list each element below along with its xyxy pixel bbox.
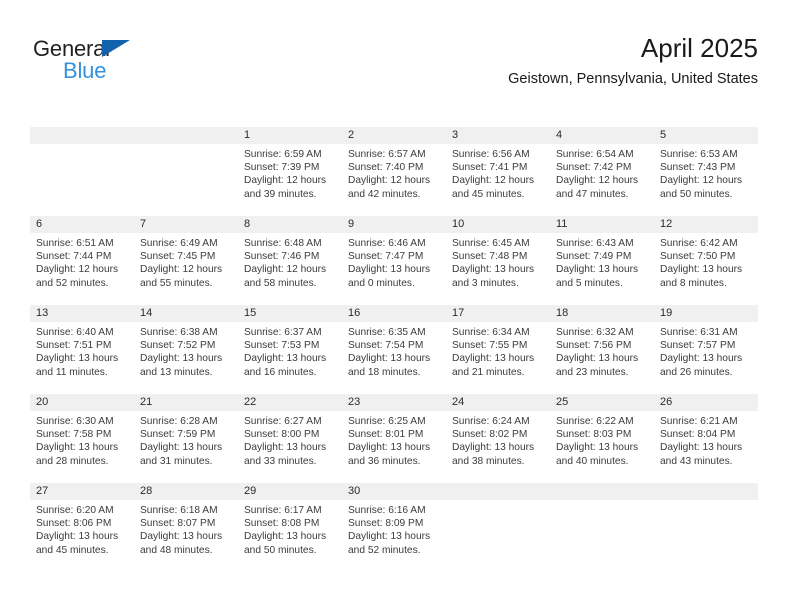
calendar-day-cell[interactable]: 17Sunrise: 6:34 AMSunset: 7:55 PMDayligh… — [446, 305, 550, 394]
daylight-text-line1: Daylight: 13 hours — [244, 441, 337, 454]
sunset-text: Sunset: 7:40 PM — [348, 161, 441, 174]
daylight-text-line2: and 8 minutes. — [660, 277, 753, 290]
day-number: 26 — [654, 394, 758, 411]
daylight-text-line1: Daylight: 13 hours — [452, 352, 545, 365]
calendar-week-row: 6Sunrise: 6:51 AMSunset: 7:44 PMDaylight… — [30, 216, 758, 305]
title-block: April 2025 Geistown, Pennsylvania, Unite… — [508, 32, 758, 88]
day-number — [446, 483, 550, 500]
day-number: 30 — [342, 483, 446, 500]
sunrise-text: Sunrise: 6:18 AM — [140, 504, 233, 517]
calendar-day-cell[interactable]: 26Sunrise: 6:21 AMSunset: 8:04 PMDayligh… — [654, 394, 758, 483]
daylight-text-line1: Daylight: 12 hours — [348, 174, 441, 187]
sunset-text: Sunset: 7:57 PM — [660, 339, 753, 352]
daylight-text-line1: Daylight: 13 hours — [140, 352, 233, 365]
day-cell-7: 7Sunrise: 6:49 AMSunset: 7:45 PMDaylight… — [134, 216, 238, 305]
daylight-text-line2: and 5 minutes. — [556, 277, 649, 290]
sun-info: Sunrise: 6:31 AMSunset: 7:57 PMDaylight:… — [654, 322, 758, 379]
day-cell-27: 27Sunrise: 6:20 AMSunset: 8:06 PMDayligh… — [30, 483, 134, 572]
calendar-day-cell[interactable]: 27Sunrise: 6:20 AMSunset: 8:06 PMDayligh… — [30, 483, 134, 572]
day-cell-5: 5Sunrise: 6:53 AMSunset: 7:43 PMDaylight… — [654, 127, 758, 216]
daylight-text-line1: Daylight: 13 hours — [36, 352, 129, 365]
daylight-text-line1: Daylight: 12 hours — [660, 174, 753, 187]
sun-info: Sunrise: 6:30 AMSunset: 7:58 PMDaylight:… — [30, 411, 134, 468]
daylight-text-line1: Daylight: 12 hours — [244, 174, 337, 187]
day-number: 1 — [238, 127, 342, 144]
sunset-text: Sunset: 7:56 PM — [556, 339, 649, 352]
weekday-header-tuesday: Tuesday — [238, 105, 342, 127]
day-number: 10 — [446, 216, 550, 233]
sun-info: Sunrise: 6:32 AMSunset: 7:56 PMDaylight:… — [550, 322, 654, 379]
day-cell-22: 22Sunrise: 6:27 AMSunset: 8:00 PMDayligh… — [238, 394, 342, 483]
daylight-text-line2: and 43 minutes. — [660, 455, 753, 468]
sunrise-text: Sunrise: 6:48 AM — [244, 237, 337, 250]
daylight-text-line2: and 36 minutes. — [348, 455, 441, 468]
weekday-header-friday: Friday — [550, 105, 654, 127]
day-number — [134, 127, 238, 144]
calendar-day-cell[interactable]: 20Sunrise: 6:30 AMSunset: 7:58 PMDayligh… — [30, 394, 134, 483]
sun-info: Sunrise: 6:40 AMSunset: 7:51 PMDaylight:… — [30, 322, 134, 379]
sunrise-text: Sunrise: 6:21 AM — [660, 415, 753, 428]
day-cell-12: 12Sunrise: 6:42 AMSunset: 7:50 PMDayligh… — [654, 216, 758, 305]
sunset-text: Sunset: 8:07 PM — [140, 517, 233, 530]
day-cell-26: 26Sunrise: 6:21 AMSunset: 8:04 PMDayligh… — [654, 394, 758, 483]
sun-info: Sunrise: 6:21 AMSunset: 8:04 PMDaylight:… — [654, 411, 758, 468]
daylight-text-line2: and 21 minutes. — [452, 366, 545, 379]
day-cell-30: 30Sunrise: 6:16 AMSunset: 8:09 PMDayligh… — [342, 483, 446, 572]
calendar-header-row: Sunday Monday Tuesday Wednesday Thursday… — [30, 105, 758, 127]
sunrise-text: Sunrise: 6:43 AM — [556, 237, 649, 250]
sunrise-text: Sunrise: 6:20 AM — [36, 504, 129, 517]
day-number: 8 — [238, 216, 342, 233]
day-number: 20 — [30, 394, 134, 411]
sunrise-text: Sunrise: 6:49 AM — [140, 237, 233, 250]
sunrise-text: Sunrise: 6:28 AM — [140, 415, 233, 428]
day-cell-empty — [134, 127, 238, 216]
calendar-day-cell[interactable]: 2Sunrise: 6:57 AMSunset: 7:40 PMDaylight… — [342, 127, 446, 216]
sunrise-text: Sunrise: 6:57 AM — [348, 148, 441, 161]
sunrise-text: Sunrise: 6:42 AM — [660, 237, 753, 250]
sun-info: Sunrise: 6:27 AMSunset: 8:00 PMDaylight:… — [238, 411, 342, 468]
day-number: 24 — [446, 394, 550, 411]
sunset-text: Sunset: 7:39 PM — [244, 161, 337, 174]
daylight-text-line2: and 23 minutes. — [556, 366, 649, 379]
day-number — [550, 483, 654, 500]
day-number: 7 — [134, 216, 238, 233]
day-number: 14 — [134, 305, 238, 322]
calendar-day-cell[interactable]: 9Sunrise: 6:46 AMSunset: 7:47 PMDaylight… — [342, 216, 446, 305]
sun-info: Sunrise: 6:56 AMSunset: 7:41 PMDaylight:… — [446, 144, 550, 201]
sunset-text: Sunset: 7:46 PM — [244, 250, 337, 263]
sun-info: Sunrise: 6:53 AMSunset: 7:43 PMDaylight:… — [654, 144, 758, 201]
daylight-text-line2: and 13 minutes. — [140, 366, 233, 379]
day-cell-6: 6Sunrise: 6:51 AMSunset: 7:44 PMDaylight… — [30, 216, 134, 305]
calendar-day-cell[interactable]: 16Sunrise: 6:35 AMSunset: 7:54 PMDayligh… — [342, 305, 446, 394]
calendar-day-cell[interactable]: 11Sunrise: 6:43 AMSunset: 7:49 PMDayligh… — [550, 216, 654, 305]
weekday-header-wednesday: Wednesday — [342, 105, 446, 127]
sunrise-text: Sunrise: 6:30 AM — [36, 415, 129, 428]
sunset-text: Sunset: 8:09 PM — [348, 517, 441, 530]
daylight-text-line1: Daylight: 12 hours — [140, 263, 233, 276]
weekday-header-thursday: Thursday — [446, 105, 550, 127]
day-number: 21 — [134, 394, 238, 411]
sunrise-text: Sunrise: 6:31 AM — [660, 326, 753, 339]
day-number: 18 — [550, 305, 654, 322]
sunset-text: Sunset: 7:42 PM — [556, 161, 649, 174]
sunset-text: Sunset: 7:53 PM — [244, 339, 337, 352]
sunset-text: Sunset: 8:03 PM — [556, 428, 649, 441]
calendar-day-cell[interactable]: 18Sunrise: 6:32 AMSunset: 7:56 PMDayligh… — [550, 305, 654, 394]
sunset-text: Sunset: 7:54 PM — [348, 339, 441, 352]
day-number: 28 — [134, 483, 238, 500]
sunrise-text: Sunrise: 6:16 AM — [348, 504, 441, 517]
sunset-text: Sunset: 7:41 PM — [452, 161, 545, 174]
sunrise-text: Sunrise: 6:27 AM — [244, 415, 337, 428]
daylight-text-line2: and 0 minutes. — [348, 277, 441, 290]
day-number — [654, 483, 758, 500]
calendar-day-cell[interactable]: 13Sunrise: 6:40 AMSunset: 7:51 PMDayligh… — [30, 305, 134, 394]
day-cell-1: 1Sunrise: 6:59 AMSunset: 7:39 PMDaylight… — [238, 127, 342, 216]
daylight-text-line2: and 26 minutes. — [660, 366, 753, 379]
sunset-text: Sunset: 7:49 PM — [556, 250, 649, 263]
sun-info: Sunrise: 6:59 AMSunset: 7:39 PMDaylight:… — [238, 144, 342, 201]
sunrise-text: Sunrise: 6:22 AM — [556, 415, 649, 428]
daylight-text-line2: and 52 minutes. — [36, 277, 129, 290]
sunrise-text: Sunrise: 6:38 AM — [140, 326, 233, 339]
daylight-text-line1: Daylight: 12 hours — [556, 174, 649, 187]
daylight-text-line2: and 11 minutes. — [36, 366, 129, 379]
sunset-text: Sunset: 7:58 PM — [36, 428, 129, 441]
sun-info: Sunrise: 6:28 AMSunset: 7:59 PMDaylight:… — [134, 411, 238, 468]
daylight-text-line1: Daylight: 13 hours — [244, 352, 337, 365]
sunset-text: Sunset: 7:43 PM — [660, 161, 753, 174]
sunset-text: Sunset: 7:50 PM — [660, 250, 753, 263]
daylight-text-line1: Daylight: 13 hours — [660, 441, 753, 454]
day-cell-16: 16Sunrise: 6:35 AMSunset: 7:54 PMDayligh… — [342, 305, 446, 394]
calendar-day-cell[interactable] — [134, 127, 238, 216]
day-number: 12 — [654, 216, 758, 233]
day-number: 13 — [30, 305, 134, 322]
logo-triangle-icon — [102, 40, 130, 57]
sunset-text: Sunset: 8:06 PM — [36, 517, 129, 530]
weekday-header-saturday: Saturday — [654, 105, 758, 127]
sun-info: Sunrise: 6:18 AMSunset: 8:07 PMDaylight:… — [134, 500, 238, 557]
day-cell-2: 2Sunrise: 6:57 AMSunset: 7:40 PMDaylight… — [342, 127, 446, 216]
day-cell-15: 15Sunrise: 6:37 AMSunset: 7:53 PMDayligh… — [238, 305, 342, 394]
sun-info: Sunrise: 6:22 AMSunset: 8:03 PMDaylight:… — [550, 411, 654, 468]
daylight-text-line2: and 42 minutes. — [348, 188, 441, 201]
daylight-text-line1: Daylight: 13 hours — [348, 530, 441, 543]
sunset-text: Sunset: 7:47 PM — [348, 250, 441, 263]
daylight-text-line1: Daylight: 13 hours — [140, 441, 233, 454]
day-cell-3: 3Sunrise: 6:56 AMSunset: 7:41 PMDaylight… — [446, 127, 550, 216]
calendar-day-cell[interactable]: 6Sunrise: 6:51 AMSunset: 7:44 PMDaylight… — [30, 216, 134, 305]
location-subtitle: Geistown, Pennsylvania, United States — [508, 70, 758, 88]
calendar-body: 1Sunrise: 6:59 AMSunset: 7:39 PMDaylight… — [30, 127, 758, 572]
daylight-text-line2: and 55 minutes. — [140, 277, 233, 290]
sun-info: Sunrise: 6:38 AMSunset: 7:52 PMDaylight:… — [134, 322, 238, 379]
daylight-text-line2: and 3 minutes. — [452, 277, 545, 290]
daylight-text-line2: and 45 minutes. — [452, 188, 545, 201]
day-cell-25: 25Sunrise: 6:22 AMSunset: 8:03 PMDayligh… — [550, 394, 654, 483]
daylight-text-line2: and 52 minutes. — [348, 544, 441, 557]
sun-info: Sunrise: 6:54 AMSunset: 7:42 PMDaylight:… — [550, 144, 654, 201]
sun-info: Sunrise: 6:46 AMSunset: 7:47 PMDaylight:… — [342, 233, 446, 290]
sunset-text: Sunset: 8:04 PM — [660, 428, 753, 441]
day-cell-14: 14Sunrise: 6:38 AMSunset: 7:52 PMDayligh… — [134, 305, 238, 394]
daylight-text-line2: and 18 minutes. — [348, 366, 441, 379]
day-number: 9 — [342, 216, 446, 233]
sun-info: Sunrise: 6:24 AMSunset: 8:02 PMDaylight:… — [446, 411, 550, 468]
daylight-text-line1: Daylight: 13 hours — [348, 352, 441, 365]
sunset-text: Sunset: 7:48 PM — [452, 250, 545, 263]
day-cell-empty — [446, 483, 550, 572]
daylight-text-line1: Daylight: 13 hours — [660, 352, 753, 365]
calendar-day-cell[interactable]: 24Sunrise: 6:24 AMSunset: 8:02 PMDayligh… — [446, 394, 550, 483]
sun-info: Sunrise: 6:20 AMSunset: 8:06 PMDaylight:… — [30, 500, 134, 557]
calendar-day-cell[interactable]: 28Sunrise: 6:18 AMSunset: 8:07 PMDayligh… — [134, 483, 238, 572]
day-number: 6 — [30, 216, 134, 233]
sunset-text: Sunset: 7:59 PM — [140, 428, 233, 441]
day-cell-8: 8Sunrise: 6:48 AMSunset: 7:46 PMDaylight… — [238, 216, 342, 305]
sunset-text: Sunset: 7:52 PM — [140, 339, 233, 352]
sun-info: Sunrise: 6:57 AMSunset: 7:40 PMDaylight:… — [342, 144, 446, 201]
day-number: 17 — [446, 305, 550, 322]
day-number: 29 — [238, 483, 342, 500]
sun-info: Sunrise: 6:45 AMSunset: 7:48 PMDaylight:… — [446, 233, 550, 290]
day-number: 22 — [238, 394, 342, 411]
sunrise-text: Sunrise: 6:40 AM — [36, 326, 129, 339]
day-number: 23 — [342, 394, 446, 411]
calendar-week-row: 1Sunrise: 6:59 AMSunset: 7:39 PMDaylight… — [30, 127, 758, 216]
daylight-text-line1: Daylight: 13 hours — [140, 530, 233, 543]
day-number: 4 — [550, 127, 654, 144]
day-number: 27 — [30, 483, 134, 500]
calendar-table: Sunday Monday Tuesday Wednesday Thursday… — [30, 105, 758, 572]
sun-info: Sunrise: 6:51 AMSunset: 7:44 PMDaylight:… — [30, 233, 134, 290]
daylight-text-line1: Daylight: 13 hours — [556, 263, 649, 276]
weekday-header-row: Sunday Monday Tuesday Wednesday Thursday… — [30, 105, 758, 127]
day-cell-empty — [550, 483, 654, 572]
page-title: April 2025 — [508, 32, 758, 64]
daylight-text-line1: Daylight: 13 hours — [660, 263, 753, 276]
weekday-header-sunday: Sunday — [30, 105, 134, 127]
calendar-week-row: 13Sunrise: 6:40 AMSunset: 7:51 PMDayligh… — [30, 305, 758, 394]
day-cell-9: 9Sunrise: 6:46 AMSunset: 7:47 PMDaylight… — [342, 216, 446, 305]
day-number: 5 — [654, 127, 758, 144]
day-number: 25 — [550, 394, 654, 411]
page-header: General Blue April 2025 Geistown, Pennsy… — [0, 0, 792, 100]
sun-info: Sunrise: 6:43 AMSunset: 7:49 PMDaylight:… — [550, 233, 654, 290]
daylight-text-line2: and 33 minutes. — [244, 455, 337, 468]
daylight-text-line1: Daylight: 13 hours — [348, 441, 441, 454]
day-cell-24: 24Sunrise: 6:24 AMSunset: 8:02 PMDayligh… — [446, 394, 550, 483]
sunrise-text: Sunrise: 6:32 AM — [556, 326, 649, 339]
daylight-text-line1: Daylight: 13 hours — [244, 530, 337, 543]
day-cell-18: 18Sunrise: 6:32 AMSunset: 7:56 PMDayligh… — [550, 305, 654, 394]
sun-info: Sunrise: 6:17 AMSunset: 8:08 PMDaylight:… — [238, 500, 342, 557]
sun-info: Sunrise: 6:48 AMSunset: 7:46 PMDaylight:… — [238, 233, 342, 290]
calendar-day-cell[interactable]: 29Sunrise: 6:17 AMSunset: 8:08 PMDayligh… — [238, 483, 342, 572]
day-cell-10: 10Sunrise: 6:45 AMSunset: 7:48 PMDayligh… — [446, 216, 550, 305]
calendar-day-cell[interactable]: 8Sunrise: 6:48 AMSunset: 7:46 PMDaylight… — [238, 216, 342, 305]
daylight-text-line1: Daylight: 12 hours — [36, 263, 129, 276]
sunset-text: Sunset: 8:01 PM — [348, 428, 441, 441]
daylight-text-line1: Daylight: 13 hours — [348, 263, 441, 276]
day-cell-23: 23Sunrise: 6:25 AMSunset: 8:01 PMDayligh… — [342, 394, 446, 483]
sunrise-text: Sunrise: 6:37 AM — [244, 326, 337, 339]
calendar-week-row: 20Sunrise: 6:30 AMSunset: 7:58 PMDayligh… — [30, 394, 758, 483]
calendar-day-cell[interactable]: 4Sunrise: 6:54 AMSunset: 7:42 PMDaylight… — [550, 127, 654, 216]
daylight-text-line1: Daylight: 13 hours — [36, 441, 129, 454]
daylight-text-line2: and 50 minutes. — [244, 544, 337, 557]
sunset-text: Sunset: 7:51 PM — [36, 339, 129, 352]
sun-info: Sunrise: 6:16 AMSunset: 8:09 PMDaylight:… — [342, 500, 446, 557]
calendar-day-cell[interactable]: 22Sunrise: 6:27 AMSunset: 8:00 PMDayligh… — [238, 394, 342, 483]
daylight-text-line2: and 38 minutes. — [452, 455, 545, 468]
calendar-day-cell[interactable]: 1Sunrise: 6:59 AMSunset: 7:39 PMDaylight… — [238, 127, 342, 216]
day-number: 11 — [550, 216, 654, 233]
sunset-text: Sunset: 8:08 PM — [244, 517, 337, 530]
daylight-text-line2: and 31 minutes. — [140, 455, 233, 468]
daylight-text-line1: Daylight: 12 hours — [452, 174, 545, 187]
sun-info: Sunrise: 6:37 AMSunset: 7:53 PMDaylight:… — [238, 322, 342, 379]
day-cell-20: 20Sunrise: 6:30 AMSunset: 7:58 PMDayligh… — [30, 394, 134, 483]
sun-info: Sunrise: 6:25 AMSunset: 8:01 PMDaylight:… — [342, 411, 446, 468]
sunset-text: Sunset: 8:00 PM — [244, 428, 337, 441]
calendar-day-cell[interactable] — [550, 483, 654, 572]
daylight-text-line2: and 48 minutes. — [140, 544, 233, 557]
day-cell-13: 13Sunrise: 6:40 AMSunset: 7:51 PMDayligh… — [30, 305, 134, 394]
sun-info: Sunrise: 6:34 AMSunset: 7:55 PMDaylight:… — [446, 322, 550, 379]
sunrise-text: Sunrise: 6:35 AM — [348, 326, 441, 339]
calendar-day-cell[interactable]: 3Sunrise: 6:56 AMSunset: 7:41 PMDaylight… — [446, 127, 550, 216]
sunset-text: Sunset: 8:02 PM — [452, 428, 545, 441]
sunrise-text: Sunrise: 6:24 AM — [452, 415, 545, 428]
day-number — [30, 127, 134, 144]
calendar-day-cell[interactable]: 30Sunrise: 6:16 AMSunset: 8:09 PMDayligh… — [342, 483, 446, 572]
day-number: 3 — [446, 127, 550, 144]
calendar-page: General Blue April 2025 Geistown, Pennsy… — [0, 0, 792, 612]
day-number: 2 — [342, 127, 446, 144]
daylight-text-line1: Daylight: 12 hours — [244, 263, 337, 276]
daylight-text-line2: and 45 minutes. — [36, 544, 129, 557]
sunrise-text: Sunrise: 6:54 AM — [556, 148, 649, 161]
sun-info: Sunrise: 6:42 AMSunset: 7:50 PMDaylight:… — [654, 233, 758, 290]
calendar-day-cell[interactable]: 25Sunrise: 6:22 AMSunset: 8:03 PMDayligh… — [550, 394, 654, 483]
daylight-text-line2: and 16 minutes. — [244, 366, 337, 379]
day-cell-21: 21Sunrise: 6:28 AMSunset: 7:59 PMDayligh… — [134, 394, 238, 483]
daylight-text-line2: and 47 minutes. — [556, 188, 649, 201]
sunrise-text: Sunrise: 6:34 AM — [452, 326, 545, 339]
daylight-text-line1: Daylight: 13 hours — [556, 441, 649, 454]
day-number: 16 — [342, 305, 446, 322]
day-cell-empty — [30, 127, 134, 216]
calendar-day-cell[interactable]: 14Sunrise: 6:38 AMSunset: 7:52 PMDayligh… — [134, 305, 238, 394]
sunrise-text: Sunrise: 6:51 AM — [36, 237, 129, 250]
sunset-text: Sunset: 7:45 PM — [140, 250, 233, 263]
calendar-day-cell[interactable]: 19Sunrise: 6:31 AMSunset: 7:57 PMDayligh… — [654, 305, 758, 394]
sunset-text: Sunset: 7:55 PM — [452, 339, 545, 352]
sunrise-text: Sunrise: 6:59 AM — [244, 148, 337, 161]
calendar-day-cell[interactable]: 12Sunrise: 6:42 AMSunset: 7:50 PMDayligh… — [654, 216, 758, 305]
day-cell-11: 11Sunrise: 6:43 AMSunset: 7:49 PMDayligh… — [550, 216, 654, 305]
logo-text-blue: Blue — [63, 58, 106, 84]
day-cell-28: 28Sunrise: 6:18 AMSunset: 8:07 PMDayligh… — [134, 483, 238, 572]
daylight-text-line2: and 58 minutes. — [244, 277, 337, 290]
day-cell-17: 17Sunrise: 6:34 AMSunset: 7:55 PMDayligh… — [446, 305, 550, 394]
sunrise-text: Sunrise: 6:45 AM — [452, 237, 545, 250]
day-cell-19: 19Sunrise: 6:31 AMSunset: 7:57 PMDayligh… — [654, 305, 758, 394]
daylight-text-line2: and 40 minutes. — [556, 455, 649, 468]
calendar-day-cell[interactable]: 10Sunrise: 6:45 AMSunset: 7:48 PMDayligh… — [446, 216, 550, 305]
calendar-week-row: 27Sunrise: 6:20 AMSunset: 8:06 PMDayligh… — [30, 483, 758, 572]
calendar-day-cell[interactable]: 15Sunrise: 6:37 AMSunset: 7:53 PMDayligh… — [238, 305, 342, 394]
daylight-text-line1: Daylight: 13 hours — [36, 530, 129, 543]
sunrise-text: Sunrise: 6:46 AM — [348, 237, 441, 250]
calendar-day-cell[interactable]: 23Sunrise: 6:25 AMSunset: 8:01 PMDayligh… — [342, 394, 446, 483]
day-cell-4: 4Sunrise: 6:54 AMSunset: 7:42 PMDaylight… — [550, 127, 654, 216]
daylight-text-line1: Daylight: 13 hours — [452, 263, 545, 276]
weekday-header-monday: Monday — [134, 105, 238, 127]
sunrise-text: Sunrise: 6:17 AM — [244, 504, 337, 517]
calendar-day-cell[interactable] — [654, 483, 758, 572]
daylight-text-line1: Daylight: 13 hours — [556, 352, 649, 365]
daylight-text-line2: and 28 minutes. — [36, 455, 129, 468]
day-number: 15 — [238, 305, 342, 322]
sun-info: Sunrise: 6:49 AMSunset: 7:45 PMDaylight:… — [134, 233, 238, 290]
calendar-day-cell[interactable]: 7Sunrise: 6:49 AMSunset: 7:45 PMDaylight… — [134, 216, 238, 305]
calendar-day-cell[interactable] — [446, 483, 550, 572]
sunrise-text: Sunrise: 6:53 AM — [660, 148, 753, 161]
sun-info: Sunrise: 6:35 AMSunset: 7:54 PMDaylight:… — [342, 322, 446, 379]
general-blue-logo: General Blue — [33, 36, 233, 88]
calendar-day-cell[interactable] — [30, 127, 134, 216]
daylight-text-line1: Daylight: 13 hours — [452, 441, 545, 454]
daylight-text-line2: and 50 minutes. — [660, 188, 753, 201]
sunset-text: Sunset: 7:44 PM — [36, 250, 129, 263]
calendar-day-cell[interactable]: 5Sunrise: 6:53 AMSunset: 7:43 PMDaylight… — [654, 127, 758, 216]
day-number: 19 — [654, 305, 758, 322]
sunrise-text: Sunrise: 6:56 AM — [452, 148, 545, 161]
daylight-text-line2: and 39 minutes. — [244, 188, 337, 201]
sunrise-text: Sunrise: 6:25 AM — [348, 415, 441, 428]
day-cell-29: 29Sunrise: 6:17 AMSunset: 8:08 PMDayligh… — [238, 483, 342, 572]
day-cell-empty — [654, 483, 758, 572]
calendar-day-cell[interactable]: 21Sunrise: 6:28 AMSunset: 7:59 PMDayligh… — [134, 394, 238, 483]
